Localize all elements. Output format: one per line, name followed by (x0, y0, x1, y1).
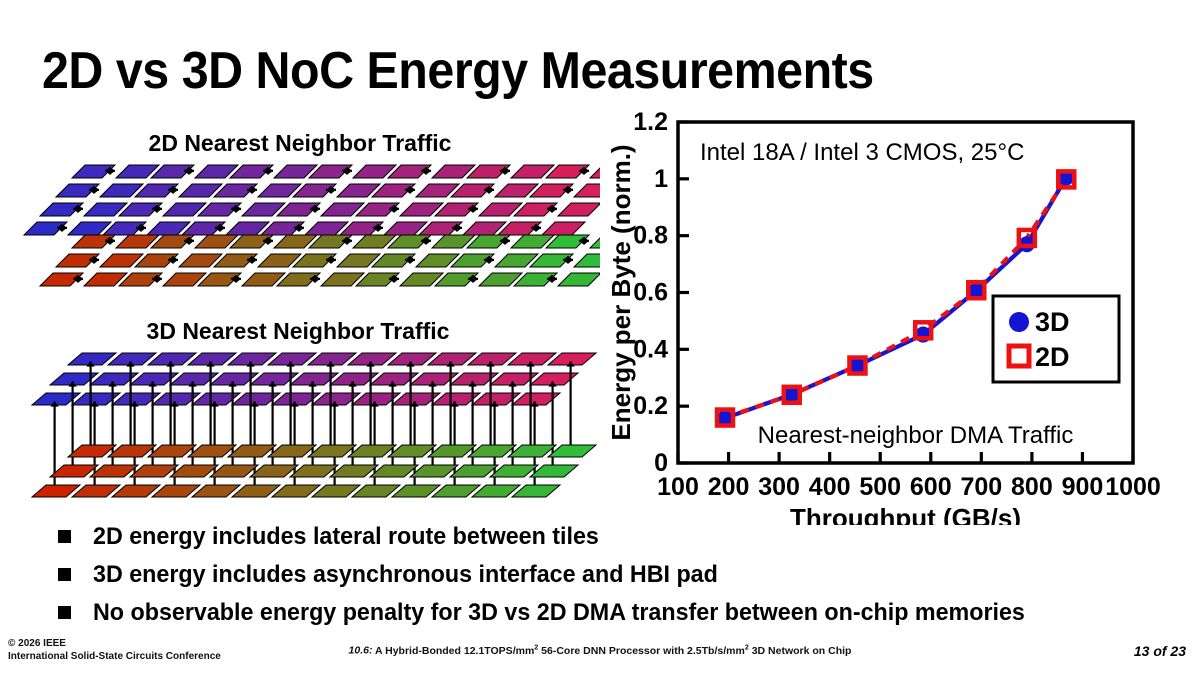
slide-root: 2D vs 3D NoC Energy Measurements 2D Near… (0, 0, 1200, 675)
footer-session-number: 10.6: (349, 645, 373, 657)
footer-paper-reference: 10.6: A Hybrid-Bonded 12.1TOPS/mm2 56-Co… (0, 643, 1200, 657)
diagram-2d: 2D Nearest Neighbor Traffic (20, 130, 600, 290)
diagram-3d: 3D Nearest Neighbor Traffic (8, 318, 608, 503)
diagram-2d-canvas (20, 157, 600, 287)
svg-text:0.2: 0.2 (633, 392, 668, 420)
svg-text:400: 400 (809, 473, 851, 501)
svg-text:800: 800 (1011, 473, 1053, 501)
bullet-square-icon (58, 568, 71, 581)
diagram-3d-canvas (8, 345, 608, 500)
svg-text:200: 200 (708, 473, 750, 501)
svg-text:Energy per Byte (norm.): Energy per Byte (norm.) (606, 144, 636, 440)
svg-text:300: 300 (758, 473, 800, 501)
svg-text:900: 900 (1062, 473, 1104, 501)
bullet-square-icon (58, 606, 71, 619)
list-item: No observable energy penalty for 3D vs 2… (58, 598, 1178, 628)
slide-footer: © 2026 IEEE International Solid-State Ci… (0, 629, 1200, 675)
svg-text:Intel 18A / Intel 3 CMOS, 25°C: Intel 18A / Intel 3 CMOS, 25°C (700, 139, 1024, 166)
bullet-text: No observable energy penalty for 3D vs 2… (93, 598, 1025, 628)
energy-chart: 00.20.40.60.811.210020030040050060070080… (600, 110, 1170, 525)
diagram-3d-heading: 3D Nearest Neighbor Traffic (8, 318, 588, 345)
bullet-list: 2D energy includes lateral route between… (58, 522, 1178, 636)
bullet-text: 3D energy includes asynchronous interfac… (93, 560, 718, 590)
svg-text:100: 100 (657, 473, 699, 501)
page-indicator: 13 of 23 (1134, 643, 1186, 659)
footer-paper-title: A Hybrid-Bonded 12.1TOPS/mm2 56-Core DNN… (375, 645, 851, 657)
svg-text:0.6: 0.6 (633, 279, 668, 307)
svg-text:1: 1 (654, 165, 668, 193)
svg-text:500: 500 (859, 473, 901, 501)
svg-text:3D: 3D (1035, 307, 1070, 337)
list-item: 3D energy includes asynchronous interfac… (58, 560, 1178, 590)
svg-text:1000: 1000 (1105, 473, 1161, 501)
list-item: 2D energy includes lateral route between… (58, 522, 1178, 552)
svg-text:0.8: 0.8 (633, 222, 668, 250)
diagram-2d-heading: 2D Nearest Neighbor Traffic (20, 130, 580, 157)
svg-text:Nearest-neighbor DMA Traffic: Nearest-neighbor DMA Traffic (758, 422, 1074, 449)
svg-text:600: 600 (910, 473, 952, 501)
bullet-text: 2D energy includes lateral route between… (93, 522, 599, 552)
bullet-square-icon (58, 530, 71, 543)
svg-text:0.4: 0.4 (633, 335, 668, 363)
page-title: 2D vs 3D NoC Energy Measurements (42, 42, 935, 100)
svg-text:700: 700 (960, 473, 1002, 501)
svg-text:2D: 2D (1035, 342, 1070, 372)
svg-text:1.2: 1.2 (633, 110, 668, 136)
